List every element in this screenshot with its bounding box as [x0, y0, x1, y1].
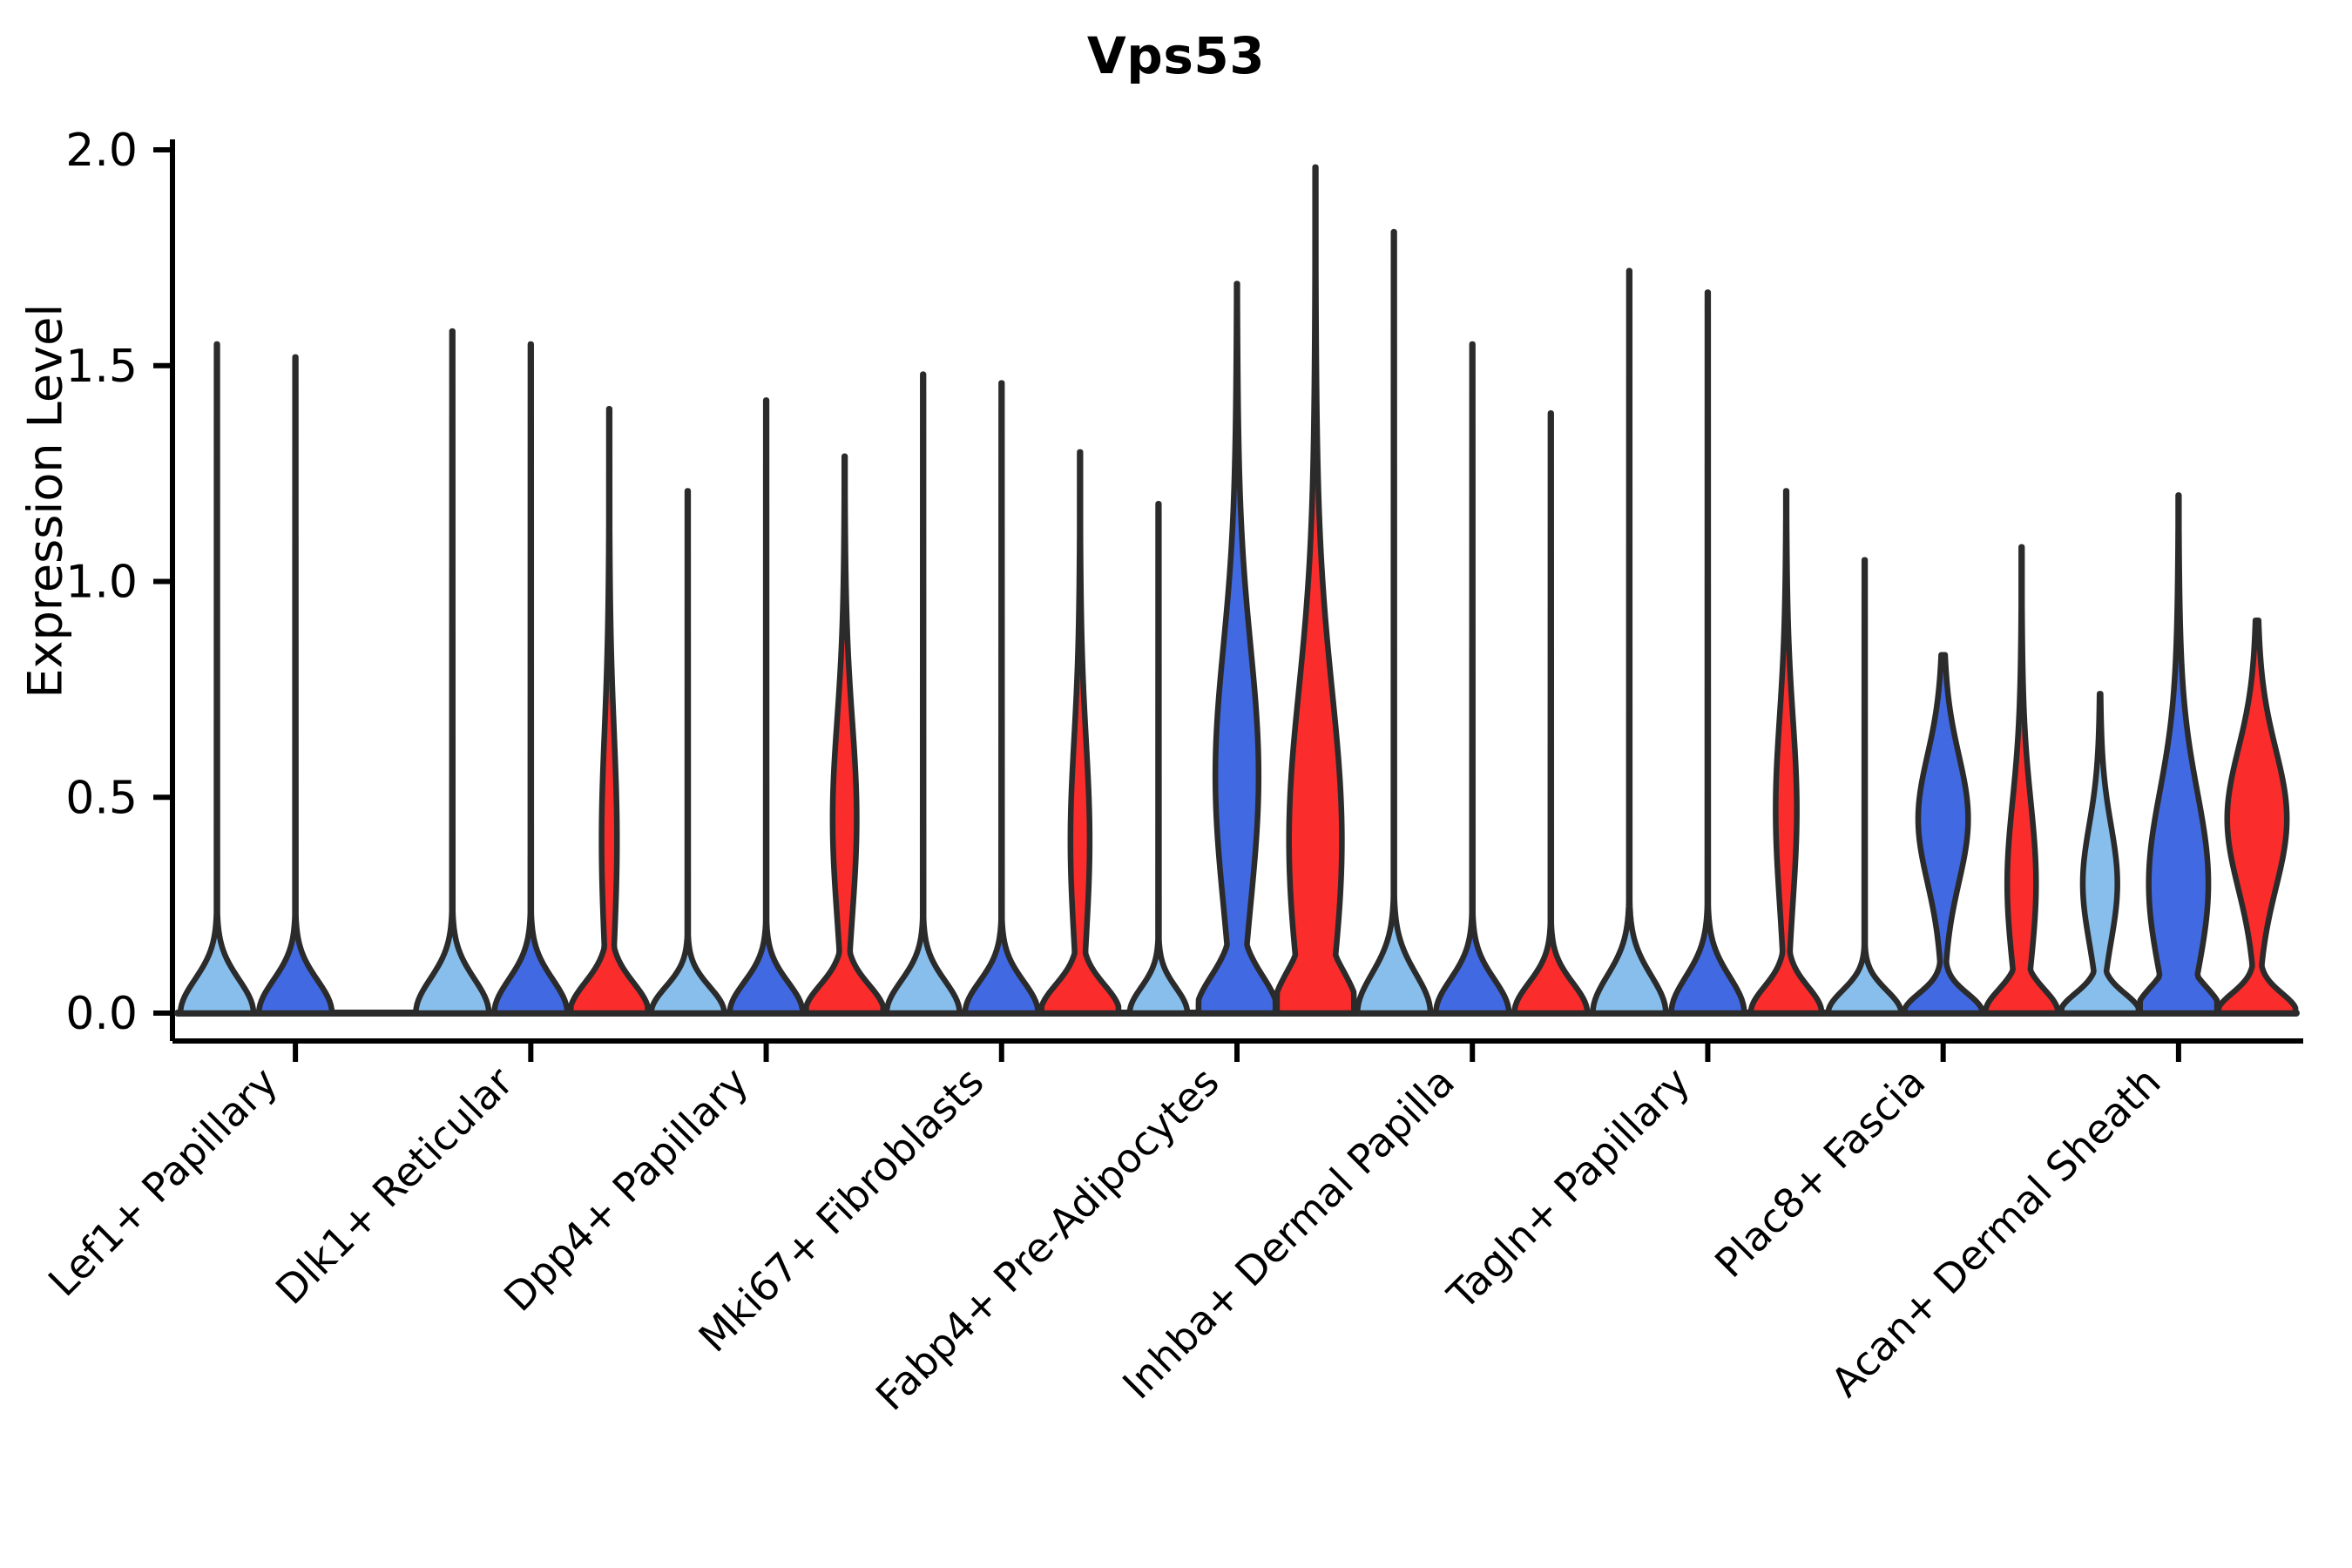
violin-shape [2219, 620, 2295, 1013]
y-tick-label: 1.0 [65, 557, 138, 609]
violin-shape [1828, 560, 1902, 1013]
violin-shape [1199, 284, 1275, 1013]
x-tick-labels: Lef1+ PapillaryDlk1+ ReticularDpp4+ Papi… [39, 1041, 2179, 1420]
violin-shape [1277, 167, 1354, 1013]
violin-shape [1985, 547, 2058, 1013]
violin-shape [887, 375, 960, 1013]
violin-series [178, 167, 2296, 1013]
y-axis: 0.00.51.01.52.0 [65, 125, 172, 1041]
y-tick-label: 2.0 [65, 125, 138, 177]
violin-shape [965, 383, 1038, 1013]
x-tick-label: Dlk1+ Reticular [267, 1058, 522, 1314]
violin-shape [652, 490, 725, 1013]
violin-shape [571, 409, 647, 1013]
violin-shape [259, 357, 332, 1013]
violin-shape [494, 344, 567, 1013]
violin-shape [1672, 293, 1745, 1013]
violin-shape [416, 331, 489, 1013]
violin-shape [1436, 344, 1509, 1013]
violin-shape [180, 344, 253, 1013]
violin-shape [1751, 490, 1821, 1013]
y-tick-label: 1.5 [65, 341, 138, 393]
violin-shape [2062, 693, 2139, 1013]
plot-canvas: 0.00.51.01.52.0 Lef1+ PapillaryDlk1+ Ret… [0, 0, 2352, 1568]
x-tick-label: Tagln+ Papillary [1438, 1058, 1700, 1320]
violin-shape [1592, 271, 1666, 1013]
x-tick-label: Dpp4+ Papillary [495, 1058, 757, 1321]
violin-shape [806, 456, 882, 1013]
violin-plot-figure: Vps53 Expression Level 0.00.51.01.52.0 L… [0, 0, 2352, 1568]
violin-shape [1130, 504, 1187, 1013]
x-tick-label: Lef1+ Papillary [39, 1058, 287, 1306]
violin-shape [1514, 413, 1587, 1013]
x-tick-label: Plac8+ Fascia [1706, 1058, 1934, 1287]
violin-shape [730, 400, 803, 1013]
violin-shape [2140, 495, 2217, 1013]
violin-shape [1042, 452, 1119, 1013]
violin-shape [1357, 232, 1430, 1013]
y-tick-label: 0.0 [65, 988, 138, 1040]
violin-shape [1905, 655, 1982, 1013]
y-tick-label: 0.5 [65, 772, 138, 824]
